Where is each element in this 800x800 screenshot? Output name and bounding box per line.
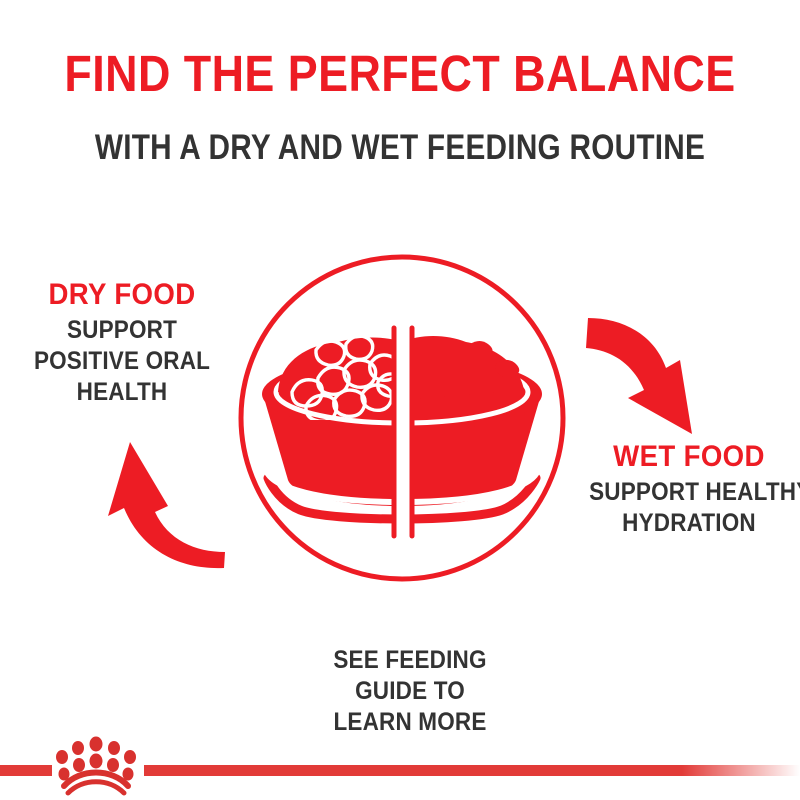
page-subtitle: WITH A DRY AND WET FEEDING ROUTINE [60, 127, 740, 169]
feeding-guide-caption[interactable]: SEE FEEDING GUIDE TO LEARN MORE [266, 645, 554, 738]
poster-canvas: FIND THE PERFECT BALANCE WITH A DRY AND … [0, 0, 800, 800]
feeding-guide-caption-line-2: GUIDE TO [266, 676, 554, 707]
horizontal-red-rule-left [0, 765, 52, 776]
dry-food-body: SUPPORT POSITIVE ORAL HEALTH [23, 315, 221, 408]
curved-arrow-up-left [108, 442, 225, 568]
dry-food-title: DRY FOOD [21, 278, 223, 312]
horizontal-red-rule-right [144, 765, 800, 776]
royal-canin-crown-logo [56, 737, 136, 794]
dry-food-body-line-2: POSITIVE ORAL [23, 346, 221, 377]
curved-arrow-down-right [586, 318, 692, 434]
wet-food-body-line-1: SUPPORT HEALTHY [589, 477, 789, 508]
wet-food-title: WET FOOD [587, 440, 791, 474]
wet-food-body-line-2: HYDRATION [589, 508, 789, 539]
feeding-guide-caption-line-3: LEARN MORE [266, 707, 554, 738]
dry-food-body-line-1: SUPPORT [23, 315, 221, 346]
dry-food-body-line-3: HEALTH [23, 377, 221, 408]
page-title: FIND THE PERFECT BALANCE [48, 46, 752, 102]
wet-food-body: SUPPORT HEALTHY HYDRATION [589, 477, 789, 539]
wet-food-label-block: WET FOOD SUPPORT HEALTHY HYDRATION [578, 440, 800, 539]
feeding-guide-caption-line-1: SEE FEEDING [266, 645, 554, 676]
dry-food-label-block: DRY FOOD SUPPORT POSITIVE ORAL HEALTH [12, 278, 232, 408]
split-pet-food-bowl-icon [262, 320, 542, 540]
